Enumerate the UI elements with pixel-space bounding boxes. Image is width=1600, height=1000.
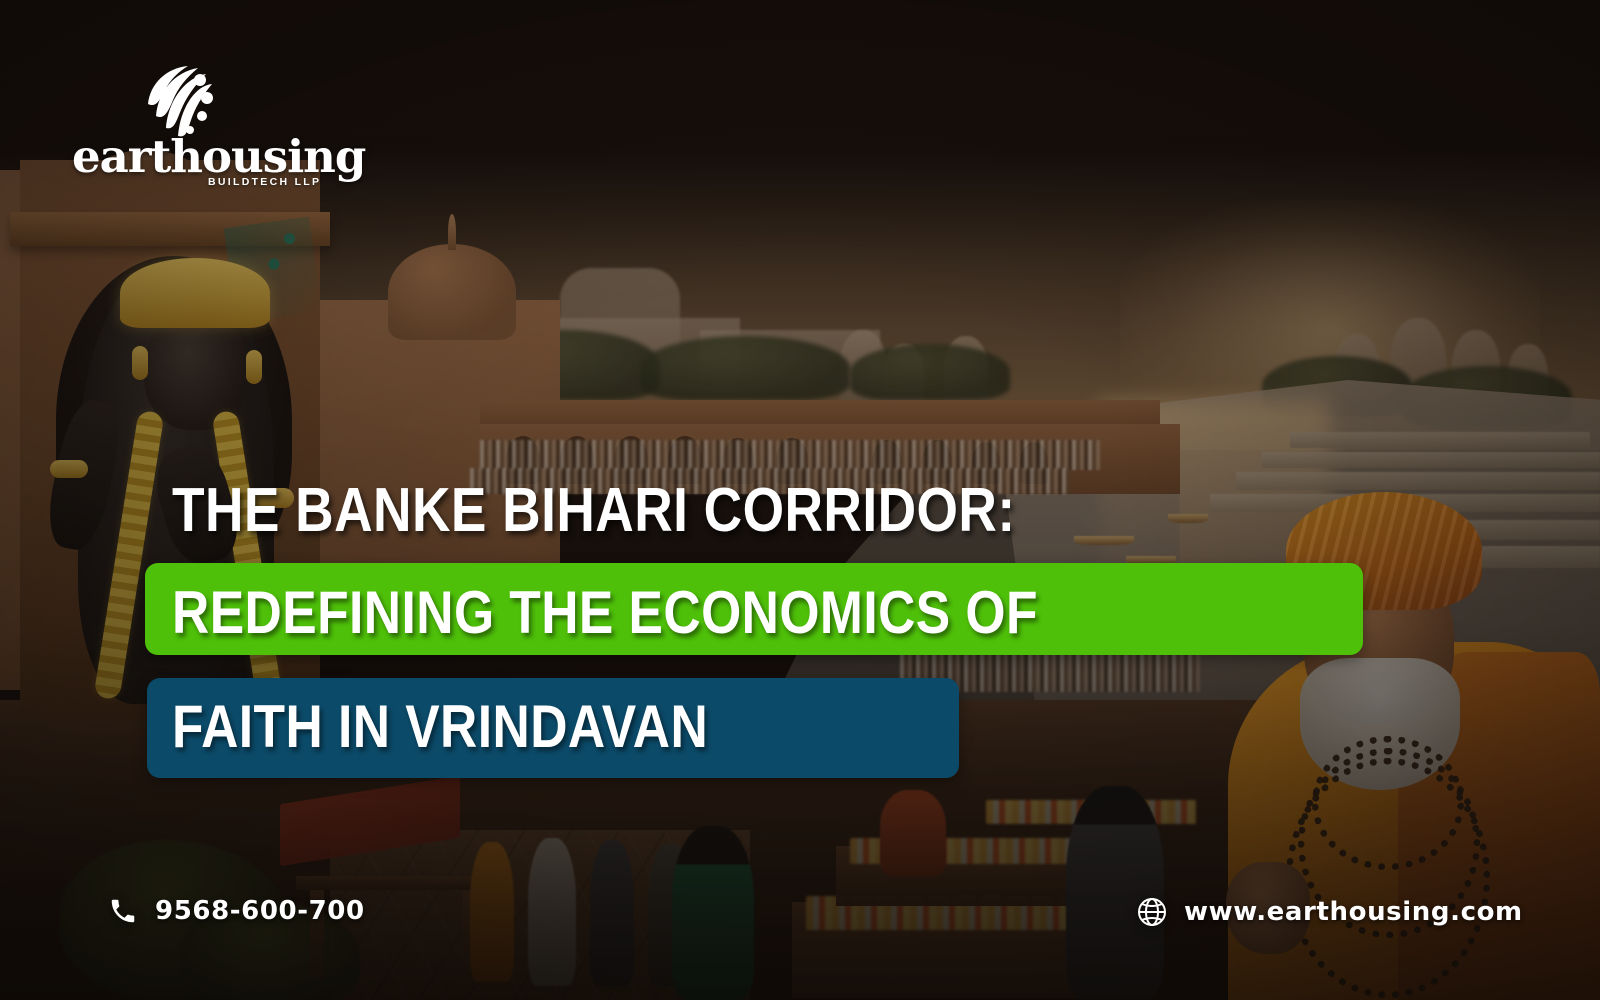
temple-dome [388,244,516,340]
headline-line-1: THE BANKE BIHARI CORRIDOR: [172,478,1016,544]
contact-phone[interactable]: 9568-600-700 [108,896,365,926]
pilgrim-figure [672,826,754,1000]
pilgrim-figure [470,842,514,982]
rudraksha-mala [1286,758,1490,998]
shopper-figure [1066,786,1164,1000]
ghat-step [1290,432,1590,448]
river-boat [1074,536,1134,545]
dome-finial [448,214,456,250]
phone-icon [108,896,138,926]
pilgrim-crowd-band [480,440,1100,470]
ghat-step [1262,452,1600,468]
promotional-banner: earthousing BUILDTECH LLP THE BANKE BIHA… [0,0,1600,1000]
website-url: www.earthousing.com [1184,897,1523,927]
pilgrim-figure [590,840,634,986]
contact-website[interactable]: www.earthousing.com [1136,896,1523,928]
river-boat [1168,514,1208,523]
idol-crown [120,258,270,328]
logo-wordmark: earthousing [72,134,365,179]
idol-earring [246,350,262,384]
brand-logo[interactable]: earthousing BUILDTECH LLP [72,58,322,180]
globe-icon [1136,896,1168,928]
phone-number: 9568-600-700 [155,896,365,926]
treeline [640,336,850,400]
pilgrim-figure [528,838,576,986]
logo-tagline: BUILDTECH LLP [208,176,321,188]
stall-table [296,876,496,890]
headline-line-2: REDEFINING THE ECONOMICS OF [172,578,1038,647]
idol-earring [132,346,148,380]
idol-bracelet [50,460,88,478]
treeline [850,344,1010,400]
headline-line-3: FAITH IN VRINDAVAN [172,692,708,761]
vendor-figure [880,790,946,876]
